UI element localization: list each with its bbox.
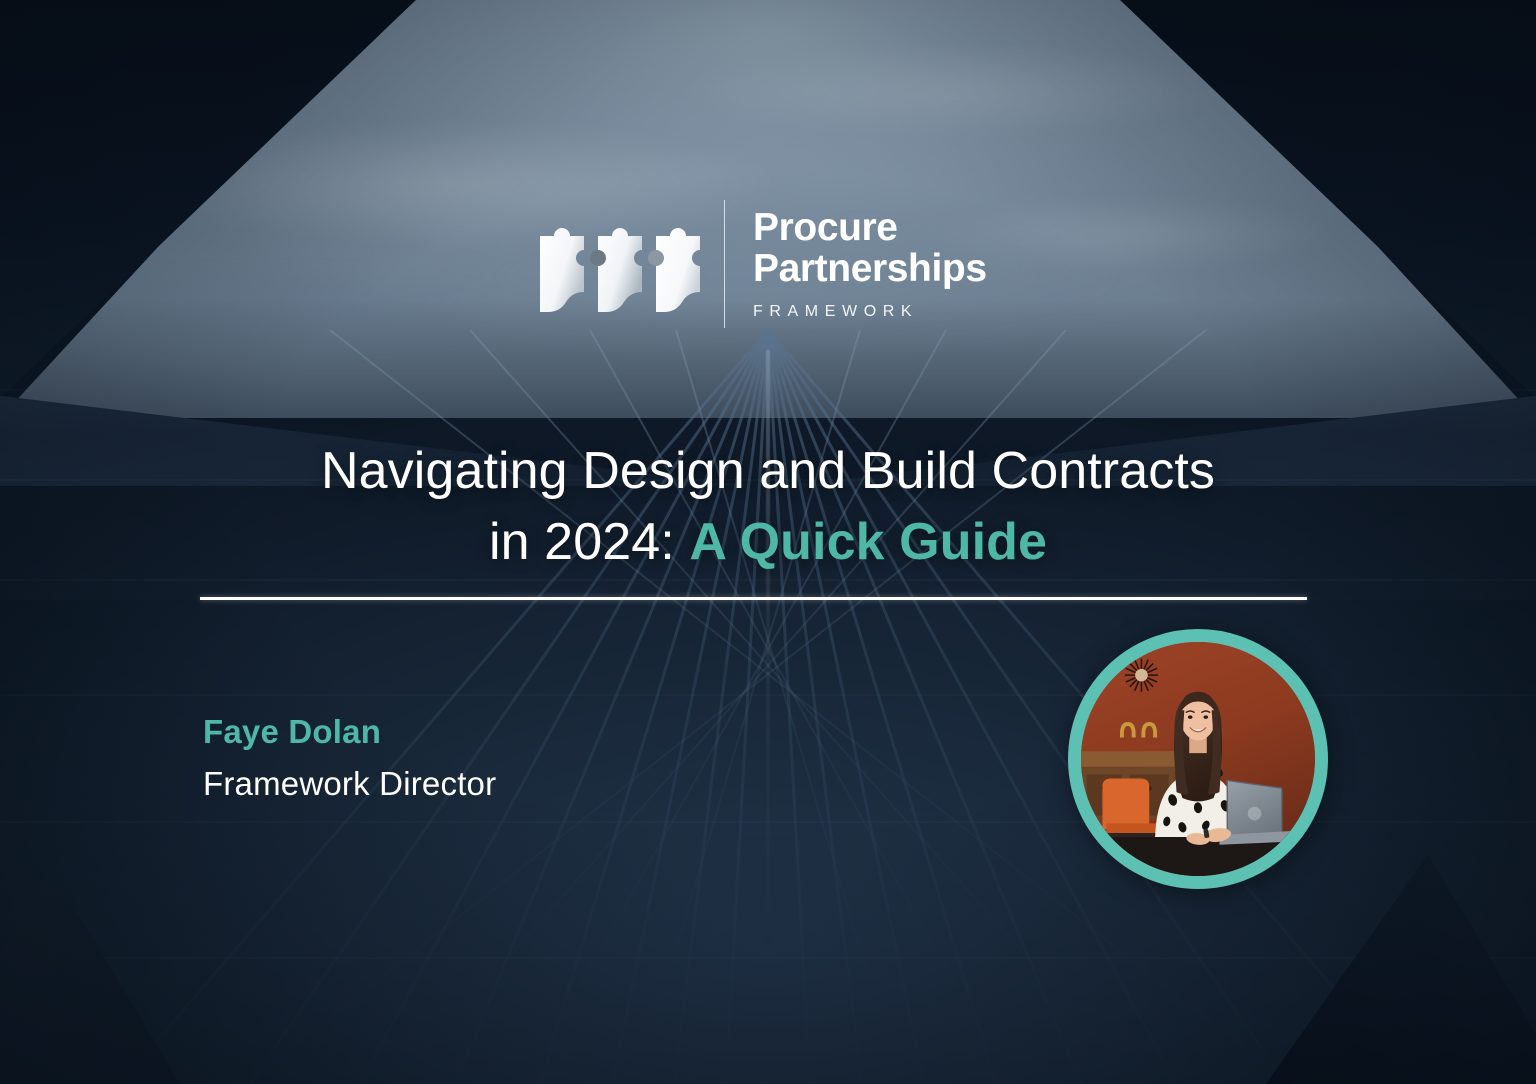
title-line-2-prefix: in 2024: <box>489 513 689 571</box>
logo-name-line2: Partnerships <box>753 248 987 289</box>
brand-logo-lockup: Procure Partnerships FRAMEWORK <box>536 200 987 328</box>
presenter-block: Faye Dolan Framework Director <box>203 712 496 803</box>
puzzle-pieces-icon <box>536 212 712 316</box>
logo-name-line1: Procure <box>753 207 987 248</box>
title-slide: Procure Partnerships FRAMEWORK Navigatin… <box>0 0 1536 1084</box>
avatar-photo <box>1081 642 1315 876</box>
title-line-1: Navigating Design and Build Contracts <box>0 436 1536 507</box>
logo-subtitle: FRAMEWORK <box>753 303 987 321</box>
presenter-name: Faye Dolan <box>203 712 496 752</box>
logo-divider-rule <box>724 200 725 328</box>
title-accent-text: A Quick Guide <box>689 513 1047 571</box>
title-line-2: in 2024: A Quick Guide <box>0 507 1536 578</box>
logo-wordmark: Procure Partnerships FRAMEWORK <box>753 207 987 322</box>
page-title: Navigating Design and Build Contracts in… <box>0 436 1536 577</box>
presenter-role: Framework Director <box>203 764 496 804</box>
avatar <box>1068 629 1328 889</box>
horizontal-divider <box>200 597 1307 600</box>
